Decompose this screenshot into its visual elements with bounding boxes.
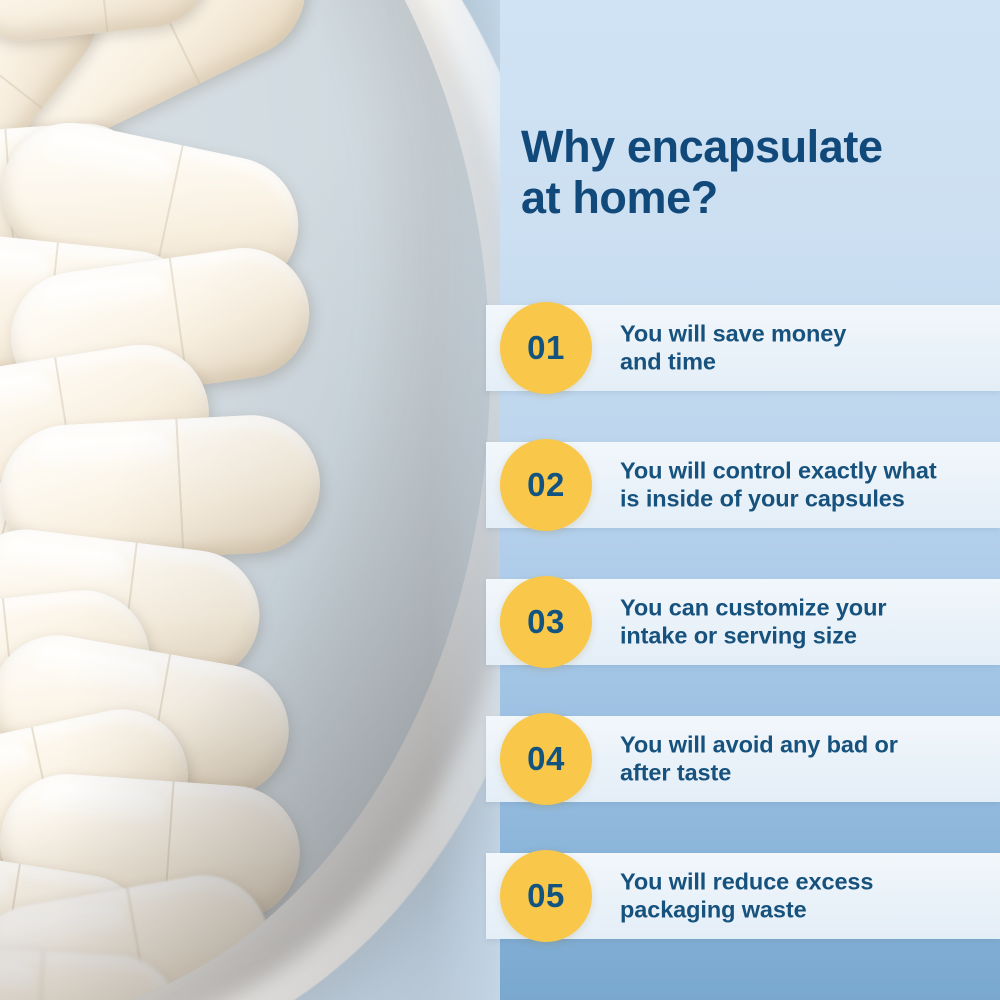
benefit-text-line-2: intake or serving size: [620, 622, 992, 650]
badge-number: 02: [527, 466, 565, 504]
badge-number: 01: [527, 329, 565, 367]
list-item: 03 You can customize your intake or serv…: [0, 576, 1000, 668]
infographic-canvas: Why encapsulate at home? 01 You will sav…: [0, 0, 1000, 1000]
badge-number: 04: [527, 740, 565, 778]
list-item: 05 You will reduce excess packaging wast…: [0, 850, 1000, 942]
badge-number: 03: [527, 603, 565, 641]
benefit-text: You will save money and time: [620, 320, 992, 377]
benefit-text: You will avoid any bad or after taste: [620, 731, 992, 788]
benefit-text: You will reduce excess packaging waste: [620, 868, 992, 925]
benefit-text-line-1: You can customize your: [620, 595, 886, 621]
list-item: 04 You will avoid any bad or after taste: [0, 713, 1000, 805]
status-badge: 02: [500, 439, 592, 531]
benefit-text: You can customize your intake or serving…: [620, 594, 992, 651]
benefit-text-line-2: is inside of your capsules: [620, 485, 1000, 513]
status-badge: 04: [500, 713, 592, 805]
benefit-text: You will control exactly what is inside …: [620, 457, 1000, 514]
benefits-list: 01 You will save money and time 02 You w…: [0, 0, 1000, 1000]
benefit-text-line-1: You will avoid any bad or: [620, 732, 898, 758]
status-badge: 03: [500, 576, 592, 668]
benefit-text-line-1: You will reduce excess: [620, 869, 873, 895]
status-badge: 01: [500, 302, 592, 394]
list-item: 01 You will save money and time: [0, 302, 1000, 394]
benefit-text-line-1: You will control exactly what: [620, 458, 937, 484]
badge-number: 05: [527, 877, 565, 915]
benefit-text-line-2: and time: [620, 348, 992, 376]
status-badge: 05: [500, 850, 592, 942]
benefit-text-line-2: after taste: [620, 759, 992, 787]
list-item: 02 You will control exactly what is insi…: [0, 439, 1000, 531]
benefit-text-line-1: You will save money: [620, 321, 846, 347]
benefit-text-line-2: packaging waste: [620, 896, 992, 924]
